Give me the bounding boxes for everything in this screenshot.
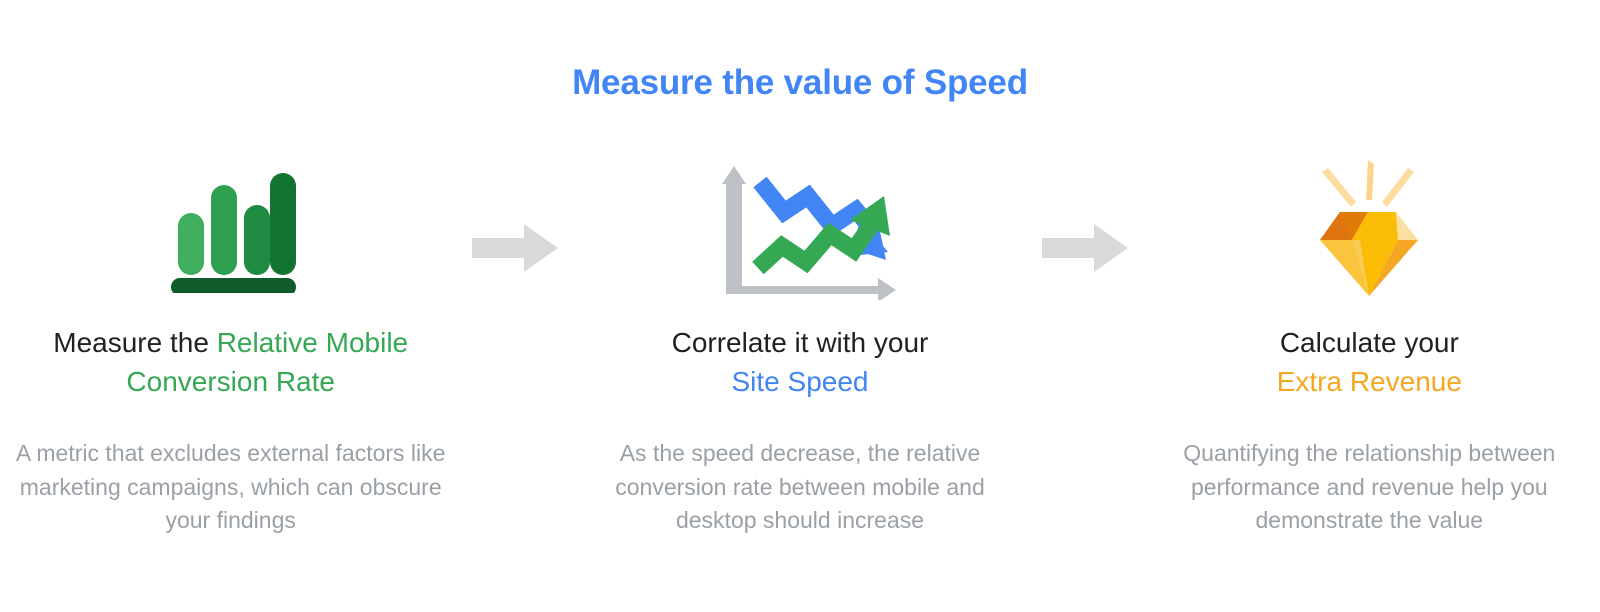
step-heading-3: Calculate your Extra Revenue [1277, 324, 1462, 401]
line-chart-icon [700, 160, 900, 300]
step-heading-lead-3: Calculate your [1280, 327, 1459, 358]
step-column-2: Correlate it with your Site Speed As the… [569, 160, 1030, 537]
infographic-page: Measure the value of Speed Measure the R… [0, 0, 1600, 612]
step-body-2: As the speed decrease, the relative conv… [573, 437, 1028, 537]
step-heading-accent-2: Site Speed [731, 366, 868, 397]
step-heading-2: Correlate it with your Site Speed [672, 324, 929, 401]
step-body-1: A metric that excludes external factors … [3, 437, 458, 537]
page-title: Measure the value of Speed [0, 62, 1600, 104]
connector-1 [461, 160, 569, 272]
step-column-3: Calculate your Extra Revenue Quantifying… [1139, 160, 1600, 537]
bar-chart-icon [166, 160, 296, 300]
gem-icon [1294, 160, 1444, 300]
step-heading-accent-3: Extra Revenue [1277, 366, 1462, 397]
arrow-right-icon [1042, 224, 1128, 272]
step-heading-lead-2: Correlate it with your [672, 327, 929, 358]
step-heading-1: Measure the Relative Mobile Conversion R… [21, 324, 441, 401]
step-body-3: Quantifying the relationship between per… [1142, 437, 1597, 537]
step-heading-lead-1: Measure the [53, 327, 216, 358]
step-column-1: Measure the Relative Mobile Conversion R… [0, 160, 461, 537]
arrow-right-icon [472, 224, 558, 272]
steps-row: Measure the Relative Mobile Conversion R… [0, 160, 1600, 537]
connector-2 [1031, 160, 1139, 272]
